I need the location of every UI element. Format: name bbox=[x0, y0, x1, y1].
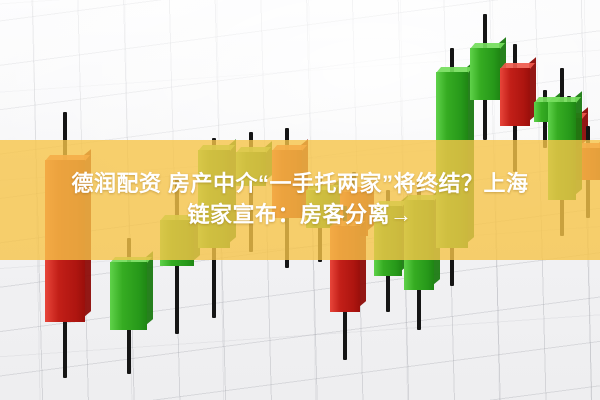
candlestick-front-face-13 bbox=[470, 48, 500, 100]
candlestick-body-2 bbox=[110, 262, 147, 330]
headline-text: 德润配资 房产中介“一手托两家”将终结？上海 链家宣布：房客分离→ bbox=[0, 168, 600, 230]
news-banner-image: 德润配资 房产中介“一手托两家”将终结？上海 链家宣布：房客分离→ bbox=[0, 0, 600, 400]
candlestick-13 bbox=[470, 14, 500, 140]
headline-line-2: 链家宣布：房客分离→ bbox=[16, 199, 584, 230]
candlestick-front-face-14 bbox=[500, 68, 530, 126]
headline-line-1: 德润配资 房产中介“一手托两家”将终结？上海 bbox=[16, 168, 584, 199]
candlestick-body-13 bbox=[470, 48, 500, 100]
candlestick-body-14 bbox=[500, 68, 530, 126]
candlestick-front-face-2 bbox=[110, 262, 147, 330]
